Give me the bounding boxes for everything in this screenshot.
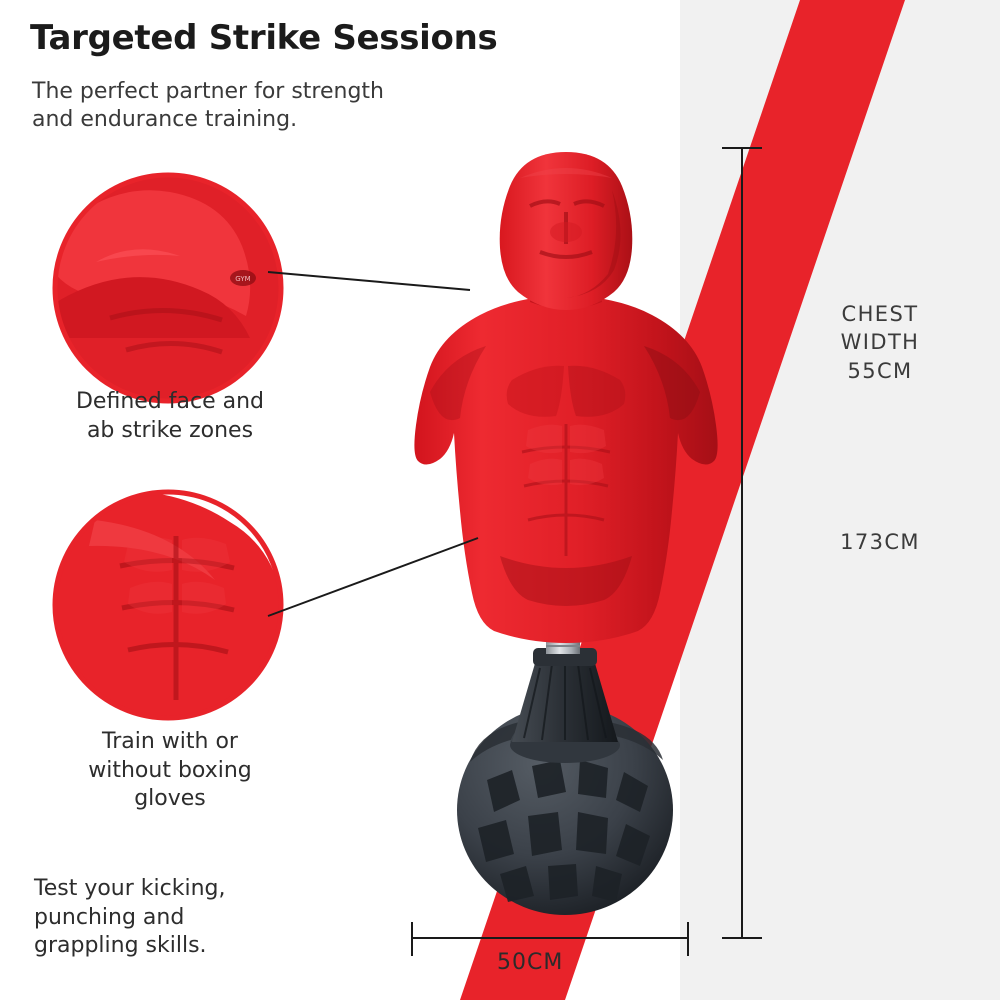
callout-caption-face-ab: Defined face and ab strike zones bbox=[40, 388, 300, 445]
dummy-base bbox=[457, 648, 673, 915]
page-subtitle: The perfect partner for strength and end… bbox=[32, 78, 592, 134]
dummy-head bbox=[500, 152, 633, 310]
callout-caption-gloves: Train with or without boxing gloves bbox=[40, 728, 300, 814]
height-label: 173CM bbox=[790, 528, 970, 556]
dummy-torso: GYM bbox=[414, 283, 717, 643]
callout-circle-abs bbox=[42, 490, 478, 718]
punching-dummy-illustration: GYM bbox=[0, 0, 1000, 1000]
dimension-height bbox=[722, 148, 762, 938]
base-width-label: 50CM bbox=[497, 950, 563, 975]
infographic-canvas: GYM bbox=[0, 0, 1000, 1000]
left-note-text: Test your kicking, punching and grapplin… bbox=[34, 875, 334, 961]
page-title: Targeted Strike Sessions bbox=[30, 18, 497, 58]
svg-text:GYM: GYM bbox=[235, 275, 250, 283]
chest-width-label: CHEST WIDTH 55CM bbox=[790, 300, 970, 385]
callout-circle-face-ab: GYM bbox=[0, 175, 470, 401]
